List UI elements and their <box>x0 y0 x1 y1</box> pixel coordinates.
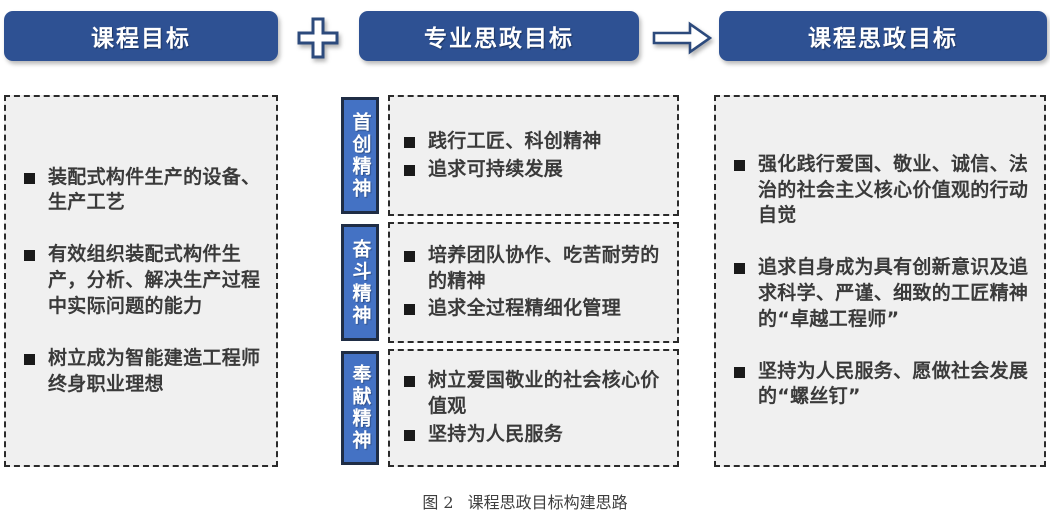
list-item: 树立爱国敬业的社会核心价值观 <box>404 368 667 420</box>
list-item-text: 树立爱国敬业的社会核心价值观 <box>428 368 667 420</box>
spine-label-struggle-spirit: 奋斗精神 <box>341 224 379 341</box>
list-item-text: 追求全过程精细化管理 <box>428 296 621 322</box>
list-item-text: 坚持为人民服务 <box>428 422 563 448</box>
arrow-right-icon <box>652 21 712 55</box>
figure-caption-text: 课程思政目标构建思路 <box>468 493 628 512</box>
bullet-square-icon <box>24 354 35 365</box>
plus-icon <box>296 16 340 60</box>
list-item-text: 践行工匠、科创精神 <box>428 129 602 155</box>
list-item-text: 强化践行爱国、敬业、诚信、法治的社会主义核心价值观的行动自觉 <box>758 152 1030 229</box>
pill-major-ideology-goal-label: 专业思政目标 <box>424 19 574 53</box>
bullet-square-icon <box>24 250 35 261</box>
bullet-square-icon <box>404 430 415 441</box>
list-item: 树立成为智能建造工程师终身职业理想 <box>24 346 262 398</box>
list-item: 追求自身成为具有创新意识及追求科学、严谨、细致的工匠精神的“卓越工程师” <box>734 255 1030 332</box>
bullet-square-icon <box>404 137 415 148</box>
pill-course-ideology-goal[interactable]: 课程思政目标 <box>719 11 1047 61</box>
left-bullet-list: 装配式构件生产的设备、生产工艺 有效组织装配式构件生产，分析、解决生产过程中实际… <box>6 97 276 465</box>
list-item: 坚持为人民服务、愿做社会发展的“螺丝钉” <box>734 359 1030 411</box>
list-item: 强化践行爱国、敬业、诚信、法治的社会主义核心价值观的行动自觉 <box>734 152 1030 229</box>
middle-group-2-list: 培养团队协作、吃苦耐劳的的精神 追求全过程精细化管理 <box>390 224 677 341</box>
bullet-square-icon <box>24 173 35 184</box>
list-item: 坚持为人民服务 <box>404 422 667 448</box>
list-item: 装配式构件生产的设备、生产工艺 <box>24 165 262 217</box>
bullet-square-icon <box>404 304 415 315</box>
pill-major-ideology-goal[interactable]: 专业思政目标 <box>359 11 639 61</box>
right-goals-box: 强化践行爱国、敬业、诚信、法治的社会主义核心价值观的行动自觉 追求自身成为具有创… <box>714 95 1046 467</box>
list-item: 培养团队协作、吃苦耐劳的的精神 <box>404 243 667 295</box>
list-item-text: 追求可持续发展 <box>428 157 563 183</box>
pill-course-ideology-goal-label: 课程思政目标 <box>808 19 958 53</box>
spine-label-text: 奉献精神 <box>351 364 370 452</box>
list-item-text: 树立成为智能建造工程师终身职业理想 <box>48 346 262 398</box>
spine-label-dedication-spirit: 奉献精神 <box>341 351 379 465</box>
bullet-square-icon <box>734 263 745 274</box>
bullet-square-icon <box>404 251 415 262</box>
bullet-square-icon <box>404 165 415 176</box>
pill-course-goal[interactable]: 课程目标 <box>4 11 278 61</box>
list-item: 追求可持续发展 <box>404 157 667 183</box>
middle-group-3-list: 树立爱国敬业的社会核心价值观 坚持为人民服务 <box>390 351 677 465</box>
middle-group-3-box: 树立爱国敬业的社会核心价值观 坚持为人民服务 <box>388 349 679 467</box>
bullet-square-icon <box>404 376 415 387</box>
right-bullet-list: 强化践行爱国、敬业、诚信、法治的社会主义核心价值观的行动自觉 追求自身成为具有创… <box>716 97 1044 465</box>
list-item: 追求全过程精细化管理 <box>404 296 667 322</box>
middle-group-2-box: 培养团队协作、吃苦耐劳的的精神 追求全过程精细化管理 <box>388 222 679 343</box>
pill-course-goal-label: 课程目标 <box>91 19 191 53</box>
list-item-text: 培养团队协作、吃苦耐劳的的精神 <box>428 243 667 295</box>
list-item-text: 装配式构件生产的设备、生产工艺 <box>48 165 262 217</box>
left-goals-box: 装配式构件生产的设备、生产工艺 有效组织装配式构件生产，分析、解决生产过程中实际… <box>4 95 278 467</box>
header-row: 课程目标 专业思政目标 课程思政目标 <box>0 0 1050 78</box>
middle-group-1-box: 践行工匠、科创精神 追求可持续发展 <box>388 95 679 216</box>
bullet-square-icon <box>734 160 745 171</box>
spine-label-text: 奋斗精神 <box>351 239 370 327</box>
spine-label-text: 首创精神 <box>351 112 370 200</box>
bullet-square-icon <box>734 367 745 378</box>
spine-label-founding-spirit: 首创精神 <box>341 97 379 214</box>
list-item: 践行工匠、科创精神 <box>404 129 667 155</box>
figure-caption-number: 图 2 <box>422 493 453 512</box>
middle-group-1-list: 践行工匠、科创精神 追求可持续发展 <box>390 97 677 214</box>
list-item-text: 有效组织装配式构件生产，分析、解决生产过程中实际问题的能力 <box>48 242 262 319</box>
list-item: 有效组织装配式构件生产，分析、解决生产过程中实际问题的能力 <box>24 242 262 319</box>
list-item-text: 坚持为人民服务、愿做社会发展的“螺丝钉” <box>758 359 1030 411</box>
list-item-text: 追求自身成为具有创新意识及追求科学、严谨、细致的工匠精神的“卓越工程师” <box>758 255 1030 332</box>
figure-caption: 图 2课程思政目标构建思路 <box>0 489 1050 513</box>
